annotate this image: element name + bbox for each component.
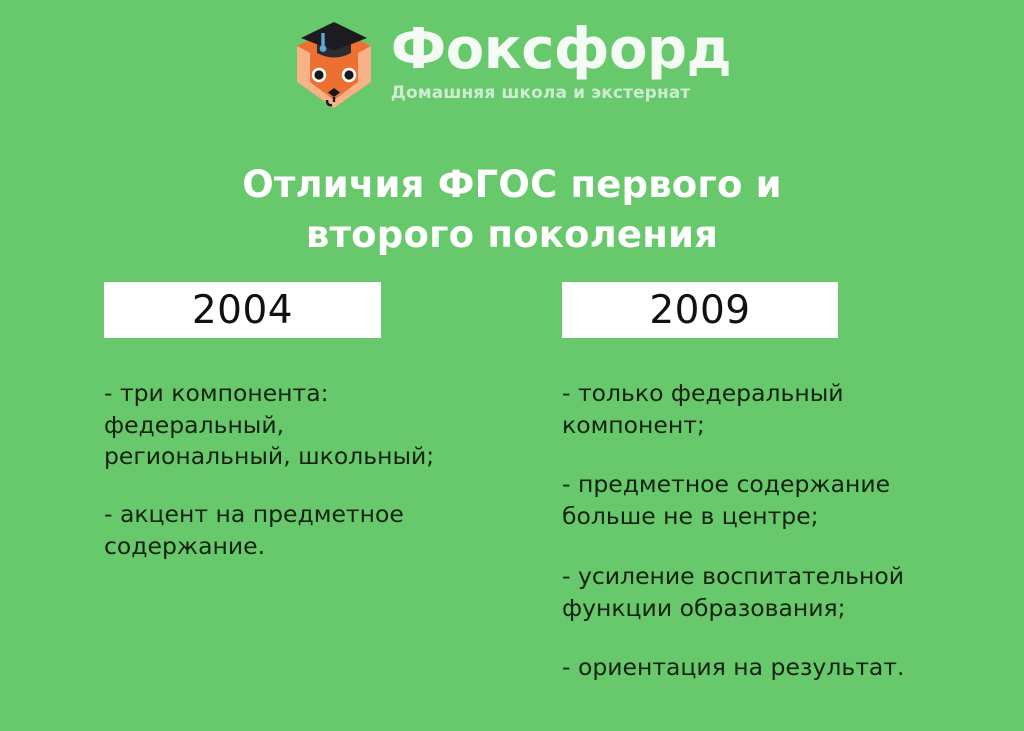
- page-title: Отличия ФГОС первого и второго поколения: [0, 160, 1024, 260]
- slide-root: Фоксфорд Домашняя школа и экстернат Отли…: [0, 0, 1024, 731]
- bullet-item: - акцент на предметное содержание.: [104, 499, 504, 562]
- brand-text-block: Фоксфорд Домашняя школа и экстернат: [391, 18, 732, 103]
- year-label: 2004: [192, 291, 293, 330]
- page-title-line-1: Отличия ФГОС первого и: [0, 160, 1024, 210]
- fox-graduation-cap-icon: [293, 20, 375, 112]
- bullet-item: - ориентация на результат.: [562, 652, 962, 684]
- year-label: 2009: [649, 291, 750, 330]
- brand-header-inner: Фоксфорд Домашняя школа и экстернат: [293, 18, 732, 112]
- year-badge-2004: 2004: [104, 282, 381, 338]
- comparison-column-2004: 2004 - три компонента: федеральный, реги…: [104, 282, 504, 563]
- bullet-list-2004: - три компонента: федеральный, региональ…: [104, 378, 504, 563]
- bullet-item: - три компонента: федеральный, региональ…: [104, 378, 504, 473]
- comparison-column-2009: 2009 - только федеральный компонент; - п…: [562, 282, 962, 684]
- brand-name: Фоксфорд: [391, 22, 732, 78]
- year-badge-2009: 2009: [562, 282, 838, 338]
- brand-header: Фоксфорд Домашняя школа и экстернат: [0, 18, 1024, 112]
- bullet-item: - предметное содержание больше не в цент…: [562, 469, 962, 532]
- bullet-item: - усиление воспитательной функции образо…: [562, 561, 962, 624]
- brand-tagline: Домашняя школа и экстернат: [391, 84, 732, 103]
- comparison-columns: 2004 - три компонента: федеральный, реги…: [0, 282, 1024, 722]
- page-title-line-2: второго поколения: [0, 210, 1024, 260]
- bullet-item: - только федеральный компонент;: [562, 378, 962, 441]
- bullet-list-2009: - только федеральный компонент; - предме…: [562, 378, 962, 684]
